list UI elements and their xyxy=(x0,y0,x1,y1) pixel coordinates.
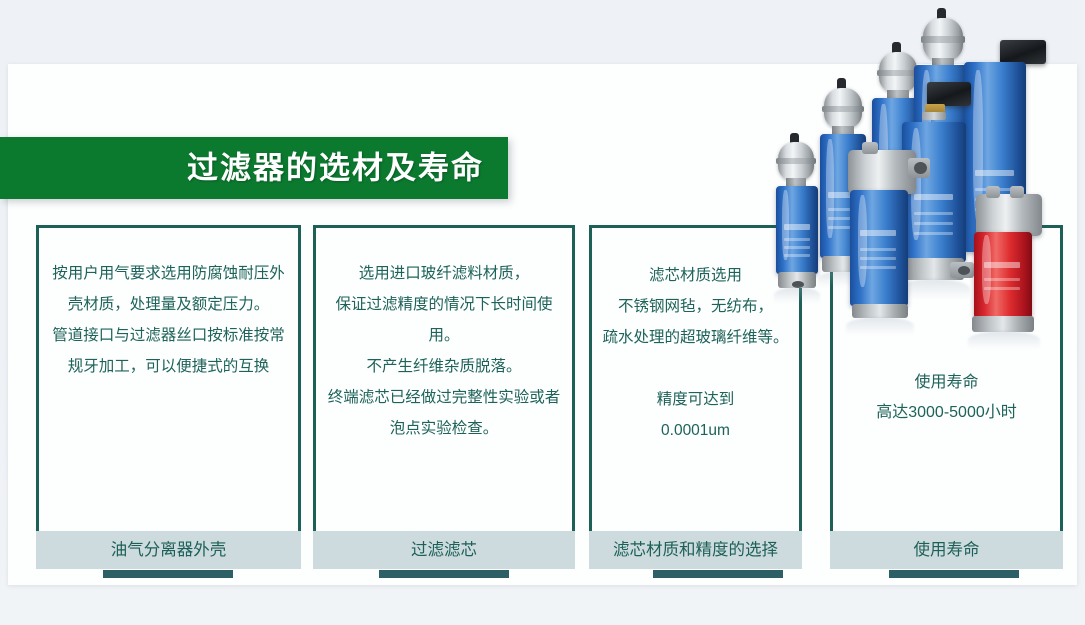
page-title: 过滤器的选材及寿命 xyxy=(0,153,484,184)
feature-column-1-body: 按用户用气要求选用防腐蚀耐压外壳材质，处理量及额定压力。 管道接口与过滤器丝口按… xyxy=(39,258,298,382)
feature-tab-1-label: 油气分离器外壳 xyxy=(36,542,301,559)
feature-tab-2[interactable]: 过滤滤芯 xyxy=(313,531,575,569)
title-banner: 过滤器的选材及寿命 xyxy=(0,137,508,199)
feature-column-3: 滤芯材质选用 不锈钢网毡，无纺布， 疏水处理的超玻璃纤维等。 精度可达到 0.0… xyxy=(589,225,802,544)
feature-column-3-body: 滤芯材质选用 不锈钢网毡，无纺布， 疏水处理的超玻璃纤维等。 精度可达到 0.0… xyxy=(592,260,799,446)
feature-column-1: 按用户用气要求选用防腐蚀耐压外壳材质，处理量及额定压力。 管道接口与过滤器丝口按… xyxy=(36,225,301,544)
feature-tab-4[interactable]: 使用寿命 xyxy=(830,531,1063,569)
feature-column-2: 选用进口玻纤滤料材质， 保证过滤精度的情况下长时间使用。 不产生纤维杂质脱落。 … xyxy=(313,225,575,544)
feature-column-4-body: 使用寿命 高达3000-5000小时 xyxy=(833,368,1060,428)
feature-tab-3-label: 滤芯材质和精度的选择 xyxy=(589,542,802,559)
feature-tab-4-underline xyxy=(889,570,1019,578)
infographic-page: 过滤器的选材及寿命 按用户用气要求选用防腐蚀耐压外壳材质，处理量及额定压力。 管… xyxy=(0,0,1085,625)
feature-tab-2-label: 过滤滤芯 xyxy=(313,542,575,559)
feature-tab-3-underline xyxy=(653,570,783,578)
feature-tab-3[interactable]: 滤芯材质和精度的选择 xyxy=(589,531,802,569)
feature-tab-2-underline xyxy=(379,570,509,578)
feature-tab-1[interactable]: 油气分离器外壳 xyxy=(36,531,301,569)
feature-column-2-body: 选用进口玻纤滤料材质， 保证过滤精度的情况下长时间使用。 不产生纤维杂质脱落。 … xyxy=(316,258,572,444)
feature-column-4: 使用寿命 高达3000-5000小时 xyxy=(830,225,1063,544)
feature-tab-4-label: 使用寿命 xyxy=(830,542,1063,559)
feature-tab-1-underline xyxy=(103,570,233,578)
